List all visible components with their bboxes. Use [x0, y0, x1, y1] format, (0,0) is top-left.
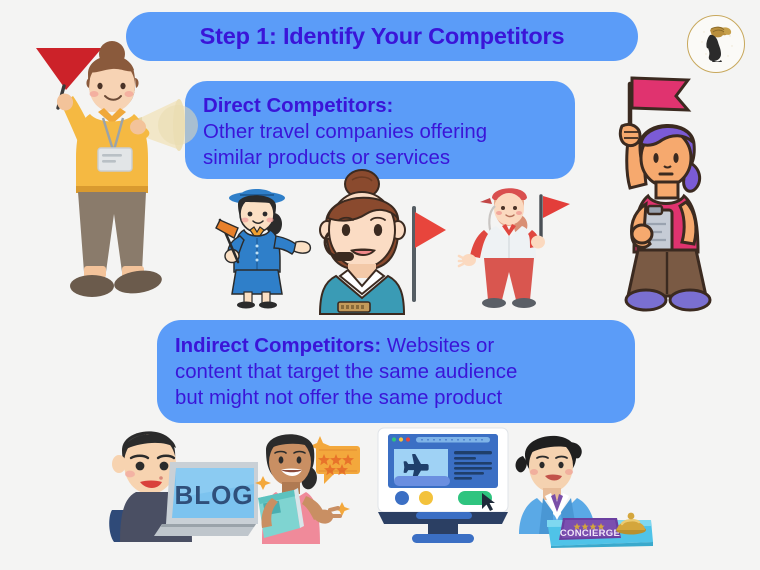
tour-guide-red-cap-white-shirt-red-flag-icon: [462, 178, 578, 308]
infographic-canvas: Step 1: Identify Your Competitors: [0, 0, 760, 570]
illustration-guide-red-cap: [462, 178, 578, 308]
indirect-competitors-text: Indirect Competitors: Websites or conten…: [175, 333, 617, 411]
illustration-left-tour-guide: [28, 38, 204, 313]
tour-guide-with-megaphone-and-red-flag-icon: [28, 38, 204, 313]
direct-competitors-box: Direct Competitors: Other travel compani…: [185, 81, 575, 179]
direct-competitors-line2: similar products or services: [203, 147, 450, 169]
indirect-competitors-heading: Indirect Competitors:: [175, 335, 381, 357]
illustration-reviewer: [250, 424, 362, 544]
indirect-competitors-box: Indirect Competitors: Websites or conten…: [157, 320, 635, 423]
page-title: Step 1: Identify Your Competitors: [200, 23, 565, 50]
direct-competitors-heading: Direct Competitors:: [203, 93, 559, 119]
indirect-competitors-line2: content that target the same audience: [175, 361, 517, 383]
tour-guide-headset-teal-shirt-red-flag-icon: [310, 168, 442, 314]
concierge-sign-text: CONCIERGE: [560, 528, 620, 539]
direct-competitors-line1: Other travel companies offering: [203, 121, 487, 143]
illustration-right-guide: [600, 62, 718, 312]
woman-with-five-star-review-bubble-icon: [250, 424, 362, 544]
woman-with-pink-flag-and-clipboard-icon: [600, 62, 718, 312]
desktop-monitor-travel-booking-website-icon: [372, 426, 514, 544]
illustration-booking-website: [372, 426, 514, 544]
illustration-guide-headset: [310, 168, 442, 314]
laptop-screen-blog-text: BLOG: [174, 480, 253, 510]
indirect-competitors-line1-rest: Websites or: [381, 335, 494, 357]
indirect-competitors-line3: but might not offer the same product: [175, 387, 502, 409]
illustration-concierge: CONCIERGE: [503, 426, 655, 548]
direct-competitors-text: Direct Competitors: Other travel compani…: [203, 93, 559, 171]
illustration-blogger: BLOG: [106, 424, 258, 546]
hotel-concierge-at-desk-icon: CONCIERGE: [503, 426, 655, 548]
blogger-at-laptop-icon: BLOG: [106, 424, 258, 546]
